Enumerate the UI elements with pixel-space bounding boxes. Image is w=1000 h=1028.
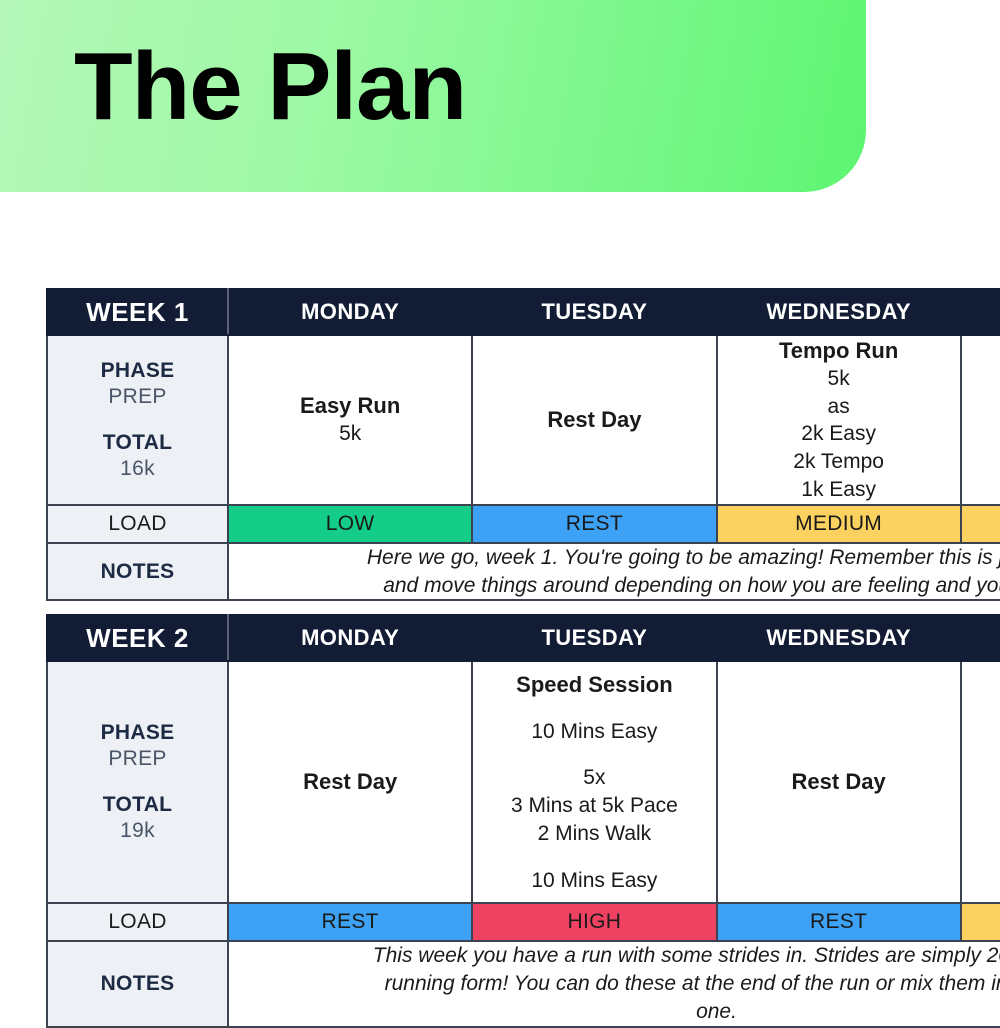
week-1-load-monday[interactable]: LOW [228,505,472,543]
week-1-phase-value: PREP [48,385,227,409]
workout-title: Rest Day [229,767,471,796]
week-1-workout-monday[interactable]: Easy Run5k [228,335,472,505]
week-2-total-value: 19k [48,819,227,843]
workout-spacer [473,745,715,764]
spacer [48,409,227,431]
workout-title: Strength [962,739,1000,768]
week-1-workout-row: PHASE PREP TOTAL 16k Easy Run5k Rest Day… [47,335,1000,505]
week-2-day-header-thursday: THURSDAY [961,615,1000,661]
workout-title: Speed Session [473,670,715,699]
workout-spacer [473,699,715,718]
workout-detail-line: 30 Mins [962,435,1000,463]
week-2-phase-value: PREP [48,747,227,771]
week-1-notes-text: Here we go, week 1. You're going to be a… [228,543,1000,601]
total-label: TOTAL [103,431,173,454]
phase-label: PHASE [101,359,175,382]
week-2-phase-total-cell: PHASE PREP TOTAL 19k [47,661,228,903]
workout-detail-line: 2 Mins Walk [473,820,715,848]
week-2-workout-row: PHASE PREP TOTAL 19k Rest Day Speed Sess… [47,661,1000,903]
week-2-table: WEEK 2 MONDAY TUESDAY WEDNESDAY THURSDAY… [46,614,1000,1028]
page-header-banner: The Plan [0,0,866,192]
week-2-day-header-wednesday: WEDNESDAY [717,615,961,661]
week-1-day-header-thursday: THURSDAY [961,289,1000,335]
workout-detail-line: 5k [718,365,960,393]
workout-detail-line: 5x [473,764,715,792]
week-2-notes-row: NOTES This week you have a run with some… [47,941,1000,1027]
workout-detail-line: 1k Easy [718,476,960,504]
workout-title: Tempo Run [718,336,960,365]
workout-title: Training [962,406,1000,435]
week-2-workout-thursday[interactable]: StrengthTraining30 Mins [961,661,1000,903]
week-1-notes-row: NOTES Here we go, week 1. You're going t… [47,543,1000,601]
week-2-load-row: LOAD REST HIGH REST MEDIUM [47,903,1000,941]
week-1-load-tuesday[interactable]: REST [472,505,716,543]
week-1-workout-wednesday[interactable]: Tempo Run5kas2k Easy2k Tempo1k Easy [717,335,961,505]
spacer [48,771,227,793]
load-label: LOAD [47,505,228,543]
week-2-day-header-monday: MONDAY [228,615,472,661]
workout-spacer [473,848,715,867]
phase-label: PHASE [101,721,175,744]
week-1-header-row: WEEK 1 MONDAY TUESDAY WEDNESDAY THURSDAY [47,289,1000,335]
workout-detail-line: 30 Mins [962,797,1000,825]
week-2-header-row: WEEK 2 MONDAY TUESDAY WEDNESDAY THURSDAY [47,615,1000,661]
workout-title: Training [962,768,1000,797]
week-1-day-header-monday: MONDAY [228,289,472,335]
week-1-workout-thursday[interactable]: StrengthTraining30 Mins [961,335,1000,505]
workout-title: Easy Run [229,391,471,420]
load-label: LOAD [47,903,228,941]
week-2-notes-text: This week you have a run with some strid… [228,941,1000,1027]
week-1-table: WEEK 1 MONDAY TUESDAY WEDNESDAY THURSDAY… [46,288,1000,601]
workout-detail-line: 3 Mins at 5k Pace [473,792,715,820]
workout-detail-line: as [718,393,960,421]
week-2-workout-monday[interactable]: Rest Day [228,661,472,903]
workout-title: Rest Day [718,767,960,796]
week-1-day-header-tuesday: TUESDAY [472,289,716,335]
workout-detail-line: 2k Easy [718,420,960,448]
week-1-total-value: 16k [48,457,227,481]
notes-label: NOTES [47,941,228,1027]
workout-detail-line: 10 Mins Easy [473,718,715,746]
total-label: TOTAL [103,793,173,816]
notes-label: NOTES [47,543,228,601]
workout-detail-line: 10 Mins Easy [473,867,715,895]
week-2-load-thursday[interactable]: MEDIUM [961,903,1000,941]
week-2-workout-wednesday[interactable]: Rest Day [717,661,961,903]
week-1-workout-tuesday[interactable]: Rest Day [472,335,716,505]
workout-title: Rest Day [473,405,715,434]
week-1-load-wednesday[interactable]: MEDIUM [717,505,961,543]
workout-detail-line: 5k [229,420,471,448]
page-title: The Plan [74,39,466,135]
week-2-load-wednesday[interactable]: REST [717,903,961,941]
week-1-load-row: LOAD LOW REST MEDIUM MEDIUM [47,505,1000,543]
week-2-title: WEEK 2 [47,615,228,661]
week-2-load-monday[interactable]: REST [228,903,472,941]
week-1-day-header-wednesday: WEDNESDAY [717,289,961,335]
week-2-load-tuesday[interactable]: HIGH [472,903,716,941]
week-1-title: WEEK 1 [47,289,228,335]
workout-title: Strength [962,377,1000,406]
week-2-workout-tuesday[interactable]: Speed Session10 Mins Easy5x3 Mins at 5k … [472,661,716,903]
week-2-day-header-tuesday: TUESDAY [472,615,716,661]
workout-detail-line: 2k Tempo [718,448,960,476]
week-1-load-thursday[interactable]: MEDIUM [961,505,1000,543]
week-1-phase-total-cell: PHASE PREP TOTAL 16k [47,335,228,505]
